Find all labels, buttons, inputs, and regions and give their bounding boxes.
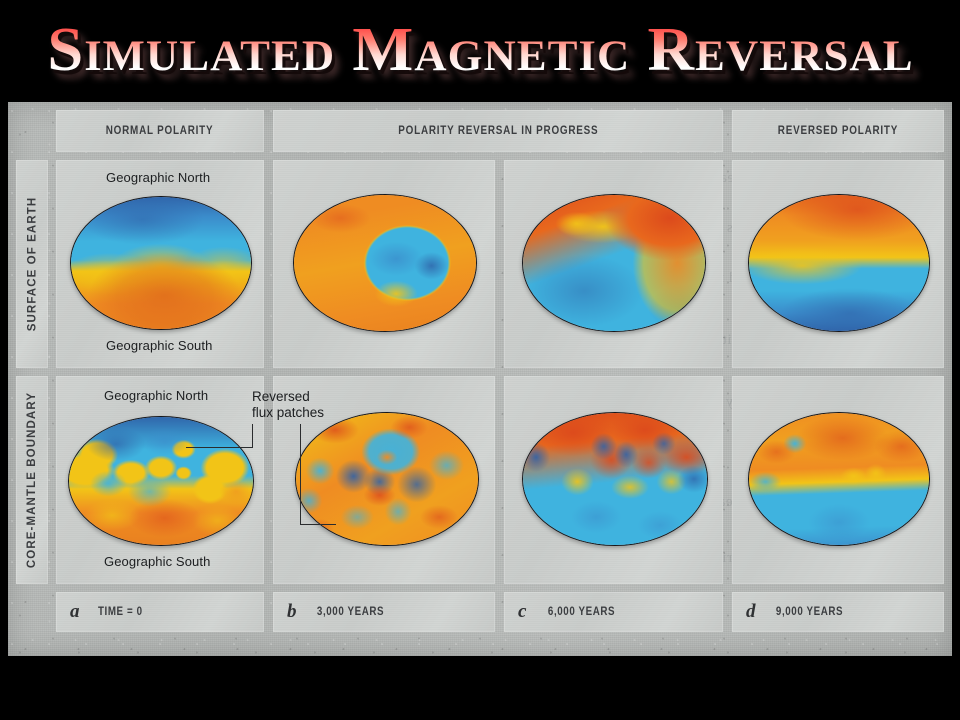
footer-cell-b: b 3,000 YEARS (273, 592, 495, 632)
row-label-surface-of-earth: SURFACE OF EARTH (16, 160, 48, 368)
panel-c-core (504, 376, 723, 584)
globe-c-surface (522, 194, 706, 332)
panel-a-core: Geographic North Geographic South (56, 376, 264, 584)
globe-b-surface (293, 194, 477, 332)
column-header-reversed-polarity: REVERSED POLARITY (732, 110, 944, 152)
panel-d-core (732, 376, 944, 584)
panel-time-c: 6,000 YEARS (548, 606, 615, 618)
column-header-label: NORMAL POLARITY (106, 125, 214, 137)
panel-letter-b: b (287, 601, 311, 623)
page-title: Simulated Magnetic Reversal (47, 15, 913, 86)
panel-d-surface (732, 160, 944, 368)
footer-cell-a: a TIME = 0 (56, 592, 264, 632)
column-header-label: REVERSED POLARITY (778, 125, 898, 137)
globe-a-core (68, 416, 254, 546)
annotation-line-2: flux patches (252, 405, 324, 421)
globe-b-core (295, 412, 479, 546)
column-header-reversal-in-progress: POLARITY REVERSAL IN PROGRESS (273, 110, 723, 152)
leader-line-b-horizontal (300, 524, 336, 525)
row-label-text: CORE-MANTLE BOUNDARY (26, 392, 38, 568)
label-geographic-south: Geographic South (106, 338, 212, 353)
title-bar: Simulated Magnetic Reversal (0, 0, 960, 100)
annotation-reversed-flux-patches: Reversed flux patches (252, 389, 324, 421)
globe-c-core (522, 412, 708, 546)
figure-sheet: contine nt s and ocean s ov er the dy na… (8, 102, 952, 656)
footer-cell-d: d 9,000 YEARS (732, 592, 944, 632)
panel-c-surface (504, 160, 723, 368)
row-label-text: SURFACE OF EARTH (26, 197, 38, 332)
panel-a-surface: Geographic North Geographic South (56, 160, 264, 368)
globe-d-surface (748, 194, 930, 332)
panel-b-surface (273, 160, 495, 368)
label-geographic-south: Geographic South (104, 554, 210, 569)
row-label-core-mantle-boundary: CORE-MANTLE BOUNDARY (16, 376, 48, 584)
panel-letter-c: c (518, 601, 542, 623)
slide: Simulated Magnetic Reversal contine nt s… (0, 0, 960, 720)
column-header-normal-polarity: NORMAL POLARITY (56, 110, 264, 152)
column-header-label: POLARITY REVERSAL IN PROGRESS (398, 125, 598, 137)
panel-letter-a: a (70, 601, 94, 623)
label-geographic-north: Geographic North (104, 388, 208, 403)
panel-time-b: 3,000 YEARS (317, 606, 384, 618)
panel-time-d: 9,000 YEARS (776, 606, 843, 618)
label-geographic-north: Geographic North (106, 170, 210, 185)
annotation-line-1: Reversed (252, 389, 324, 405)
globe-a-surface (70, 196, 252, 330)
panel-time-a: TIME = 0 (98, 606, 143, 618)
leader-line-a-horizontal (186, 447, 253, 448)
leader-line-b-vertical (300, 424, 301, 525)
leader-line-a-vertical (252, 424, 253, 448)
footer-cell-c: c 6,000 YEARS (504, 592, 723, 632)
globe-d-core (748, 412, 930, 546)
panel-letter-d: d (746, 601, 770, 623)
